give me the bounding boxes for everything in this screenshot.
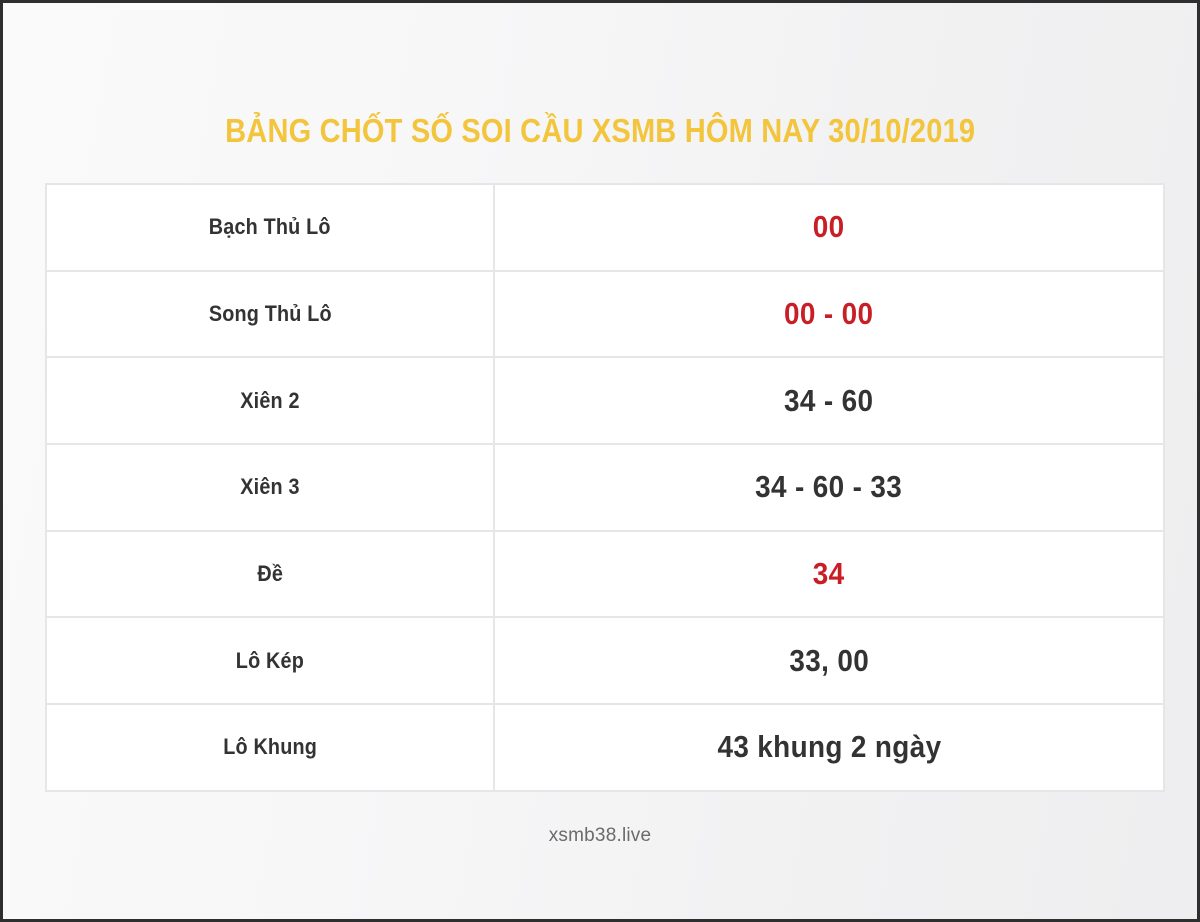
table-row: Xiên 3 34 - 60 - 33 [46,444,1164,531]
row-label-cell: Bạch Thủ Lô [46,184,494,271]
table-row: Song Thủ Lô 00 - 00 [46,271,1164,358]
row-value-cell: 34 - 60 - 33 [494,444,1164,531]
title-bar: BẢNG CHỐT SỐ SOI CẦU XSMB HÔM NAY 30/10/… [3,89,1197,173]
table-row: Xiên 2 34 - 60 [46,357,1164,444]
row-value: 34 [813,556,845,592]
site-watermark: xsmb38.live [549,825,652,846]
table-row: Bạch Thủ Lô 00 [46,184,1164,271]
row-label-cell: Lô Kép [46,617,494,704]
row-label-cell: Song Thủ Lô [46,271,494,358]
row-value-cell: 34 - 60 [494,357,1164,444]
row-label-cell: Xiên 3 [46,444,494,531]
row-value: 00 - 00 [784,296,873,332]
row-value: 00 [813,209,845,245]
chot-so-table: Bạch Thủ Lô 00 Song Thủ Lô 00 - 00 Xiên … [45,183,1165,792]
row-label: Lô Khung [223,734,317,760]
row-label-cell: Lô Khung [46,704,494,791]
row-label: Lô Kép [236,648,304,674]
table-row: Đề 34 [46,531,1164,618]
table-row: Lô Kép 33, 00 [46,617,1164,704]
row-value: 33, 00 [789,643,869,679]
row-label-cell: Đề [46,531,494,618]
row-value-cell: 00 - 00 [494,271,1164,358]
row-value-cell: 33, 00 [494,617,1164,704]
row-value: 34 - 60 [784,383,873,419]
table-body: Bạch Thủ Lô 00 Song Thủ Lô 00 - 00 Xiên … [46,184,1164,791]
row-label: Xiên 3 [240,474,299,500]
footer: xsmb38.live [3,825,1197,847]
row-label-cell: Xiên 2 [46,357,494,444]
row-value-cell: 34 [494,531,1164,618]
row-label: Đề [257,561,283,587]
row-value-cell: 43 khung 2 ngày [494,704,1164,791]
row-label: Xiên 2 [240,388,299,414]
row-value-cell: 00 [494,184,1164,271]
row-value: 43 khung 2 ngày [717,729,941,765]
row-value: 34 - 60 - 33 [755,469,902,505]
page-root: BẢNG CHỐT SỐ SOI CẦU XSMB HÔM NAY 30/10/… [3,3,1197,919]
row-label: Song Thủ Lô [209,301,332,327]
table-row: Lô Khung 43 khung 2 ngày [46,704,1164,791]
page-title: BẢNG CHỐT SỐ SOI CẦU XSMB HÔM NAY 30/10/… [225,111,975,151]
row-label: Bạch Thủ Lô [209,214,331,240]
